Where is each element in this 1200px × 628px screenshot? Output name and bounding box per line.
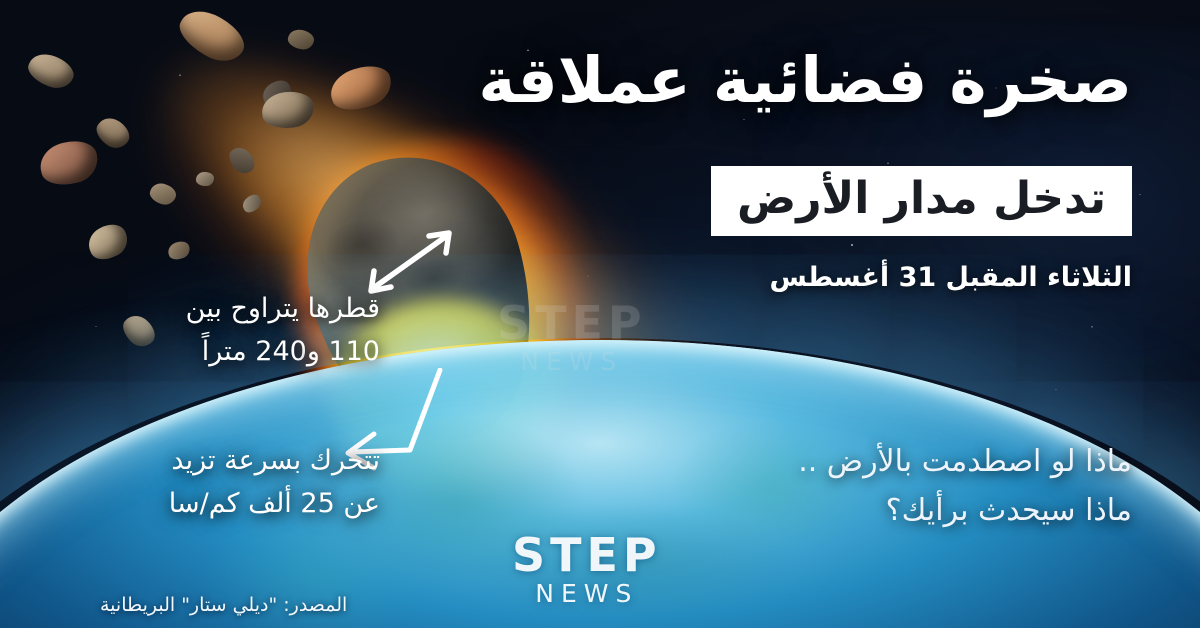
source-credit: المصدر: "ديلي ستار" البريطانية (100, 594, 347, 616)
question-text: ماذا لو اصطدمت بالأرض .. ماذا سيحدث برأي… (798, 438, 1132, 535)
watermark-news-text: NEWS (497, 349, 647, 374)
date-text: الثلاثاء المقبل 31 أغسطس (770, 262, 1132, 293)
infographic-canvas: STEP NEWS صخرة فضائية عملاقة تدخل مدار ا… (0, 0, 1200, 628)
watermark-logo-center: STEP NEWS (497, 300, 647, 374)
fact-diameter-line-1: قطرها يتراوح بين (186, 288, 380, 331)
watermark-step-text: STEP (497, 300, 647, 346)
page-title: صخرة فضائية عملاقة (478, 48, 1132, 115)
fact-diameter-line-2: 110 و240 متراً (186, 331, 380, 374)
question-line-1: ماذا لو اصطدمت بالأرض .. (798, 438, 1132, 487)
brand-news-text: NEWS (512, 581, 662, 606)
brand-step-text: STEP (512, 532, 662, 578)
fact-diameter: قطرها يتراوح بين 110 و240 متراً (186, 288, 380, 373)
subtitle-banner: تدخل مدار الأرض (711, 166, 1132, 236)
fact-speed-line-2: عن 25 ألف كم/سا (169, 483, 380, 526)
brand-logo: STEP NEWS (512, 532, 662, 606)
question-line-2: ماذا سيحدث برأيك؟ (798, 487, 1132, 536)
fact-speed: تتحرك بسرعة تزيد عن 25 ألف كم/سا (169, 440, 380, 525)
fact-speed-line-1: تتحرك بسرعة تزيد (169, 440, 380, 483)
